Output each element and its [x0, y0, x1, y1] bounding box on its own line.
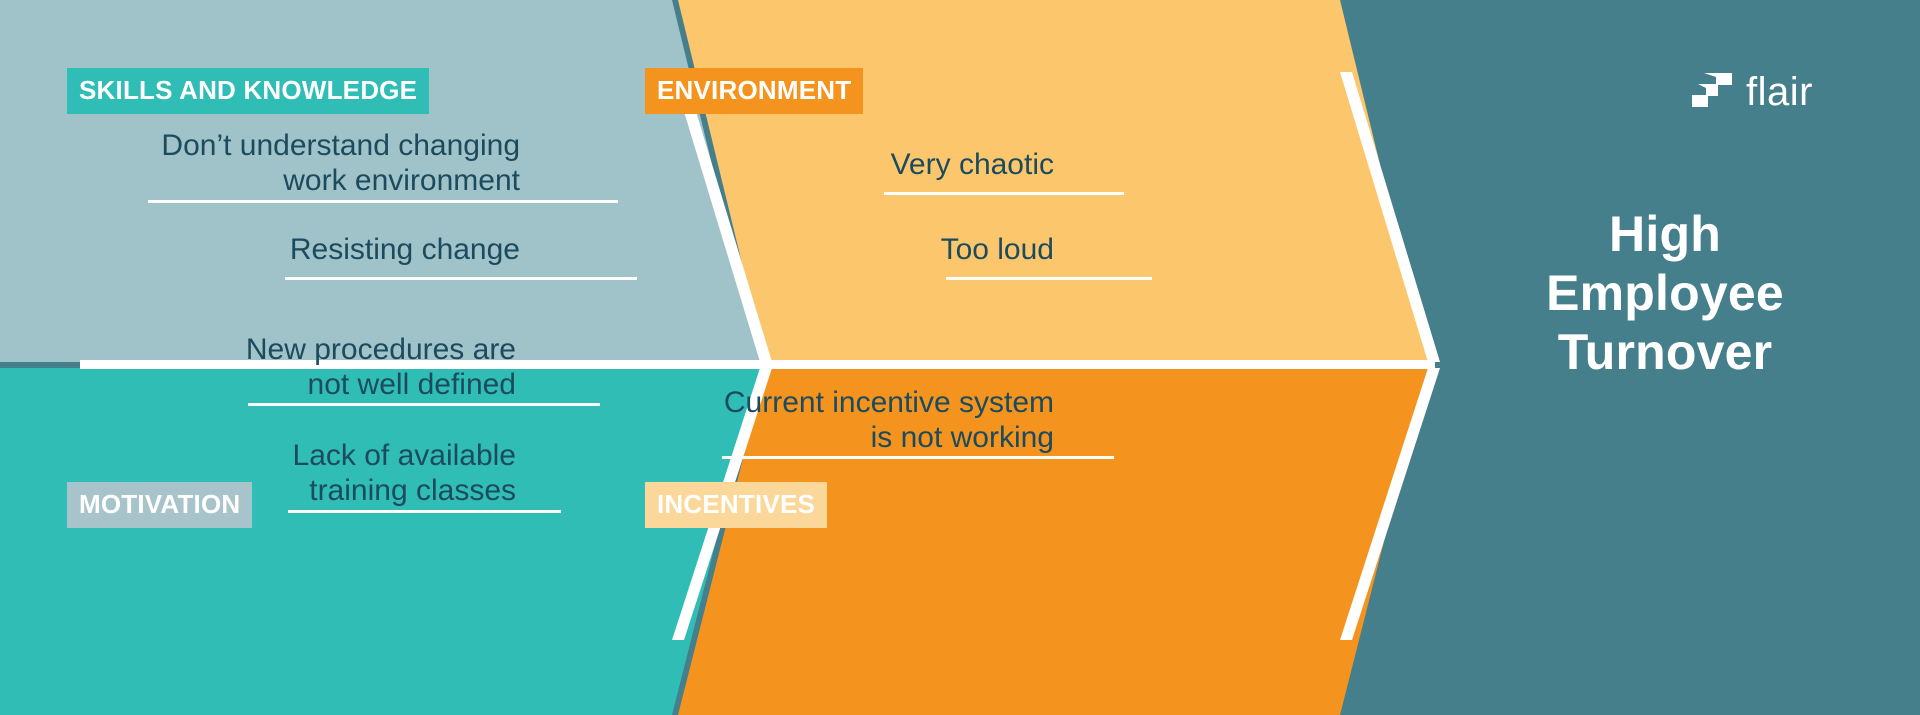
cause-skills-2: Resisting change — [140, 232, 520, 267]
cause-underline-skills-1 — [148, 200, 618, 203]
quadrant-motivation — [0, 368, 760, 715]
brand-logo[interactable]: flair — [1688, 72, 1813, 112]
cause-underline-motivation-1 — [248, 403, 600, 406]
category-chip-incentives[interactable]: INCENTIVES — [645, 482, 827, 528]
brand-wordmark: flair — [1746, 72, 1813, 112]
cause-underline-motivation-2 — [288, 510, 561, 513]
flair-steps-logo-icon — [1688, 73, 1732, 112]
category-chip-environment[interactable]: ENVIRONMENT — [645, 68, 863, 114]
cause-skills-1: Don’t understand changing work environme… — [140, 128, 520, 199]
category-chip-skills-and-knowledge[interactable]: SKILLS AND KNOWLEDGE — [67, 68, 429, 114]
cause-underline-skills-2 — [285, 277, 637, 280]
cause-underline-incentives-1 — [722, 456, 1114, 459]
cause-environment-1: Very chaotic — [700, 147, 1054, 182]
cause-underline-environment-2 — [946, 277, 1152, 280]
effect-title: High Employee Turnover — [1455, 205, 1875, 382]
fishbone-diagram-canvas: SKILLS AND KNOWLEDGE Don’t understand ch… — [0, 0, 1920, 715]
cause-environment-2: Too loud — [700, 232, 1054, 267]
category-chip-motivation[interactable]: MOTIVATION — [67, 482, 252, 528]
cause-motivation-1: New procedures are not well defined — [140, 332, 516, 403]
cause-underline-environment-1 — [884, 192, 1124, 195]
cause-incentives-1: Current incentive system is not working — [700, 385, 1054, 456]
